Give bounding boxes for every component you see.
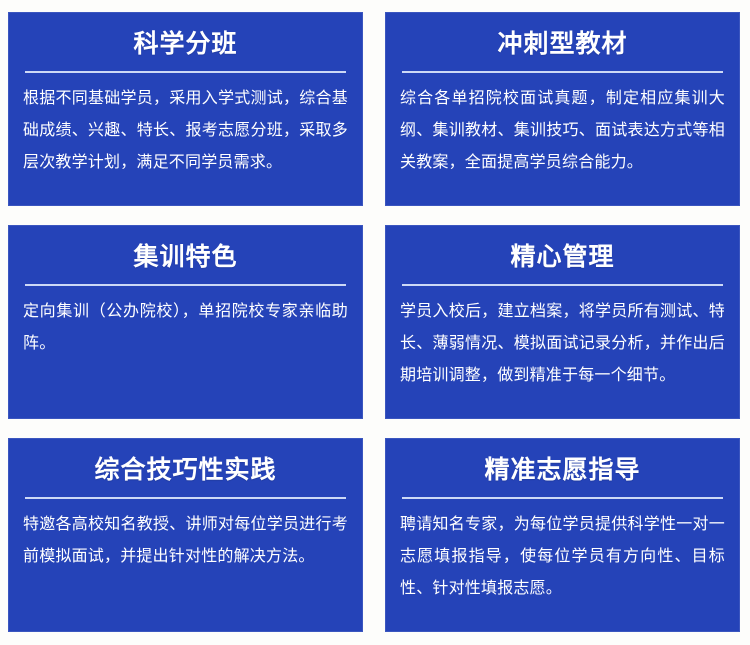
title-divider [25,71,346,73]
feature-card-title: 科学分班 [23,30,348,59]
feature-card: 集训特色 定向集训（公办院校），单招院校专家亲临助阵。 [8,225,363,419]
feature-card-title: 精心管理 [400,243,725,272]
feature-card-body: 定向集训（公办院校），单招院校专家亲临助阵。 [23,296,348,360]
title-divider [402,497,723,499]
feature-card-body: 综合各单招院校面试真题，制定相应集训大纲、集训教材、集训技巧、面试表达方式等相关… [400,83,725,179]
title-divider [402,71,723,73]
title-divider [402,284,723,286]
feature-card: 精心管理 学员入校后，建立档案，将学员所有测试、特长、薄弱情况、模拟面试记录分析… [385,225,740,419]
feature-card: 科学分班 根据不同基础学员，采用入学式测试，综合基础成绩、兴趣、特长、报考志愿分… [8,12,363,206]
feature-card: 冲刺型教材 综合各单招院校面试真题，制定相应集训大纲、集训教材、集训技巧、面试表… [385,12,740,206]
feature-card: 精准志愿指导 聘请知名专家，为每位学员提供科学性一对一志愿填报指导，使每位学员有… [385,438,740,632]
feature-card: 综合技巧性实践 特邀各高校知名教授、讲师对每位学员进行考前模拟面试，并提出针对性… [8,438,363,632]
feature-card-grid: 科学分班 根据不同基础学员，采用入学式测试，综合基础成绩、兴趣、特长、报考志愿分… [0,0,750,645]
feature-card-title: 冲刺型教材 [400,30,725,59]
feature-card-body: 聘请知名专家，为每位学员提供科学性一对一志愿填报指导，使每位学员有方向性、目标性… [400,509,725,605]
feature-card-title: 综合技巧性实践 [23,456,348,485]
title-divider [25,284,346,286]
feature-card-title: 集训特色 [23,243,348,272]
feature-card-body: 特邀各高校知名教授、讲师对每位学员进行考前模拟面试，并提出针对性的解决方法。 [23,509,348,573]
feature-card-title: 精准志愿指导 [400,456,725,485]
feature-card-body: 学员入校后，建立档案，将学员所有测试、特长、薄弱情况、模拟面试记录分析，并作出后… [400,296,725,392]
title-divider [25,497,346,499]
feature-card-body: 根据不同基础学员，采用入学式测试，综合基础成绩、兴趣、特长、报考志愿分班，采取多… [23,83,348,179]
